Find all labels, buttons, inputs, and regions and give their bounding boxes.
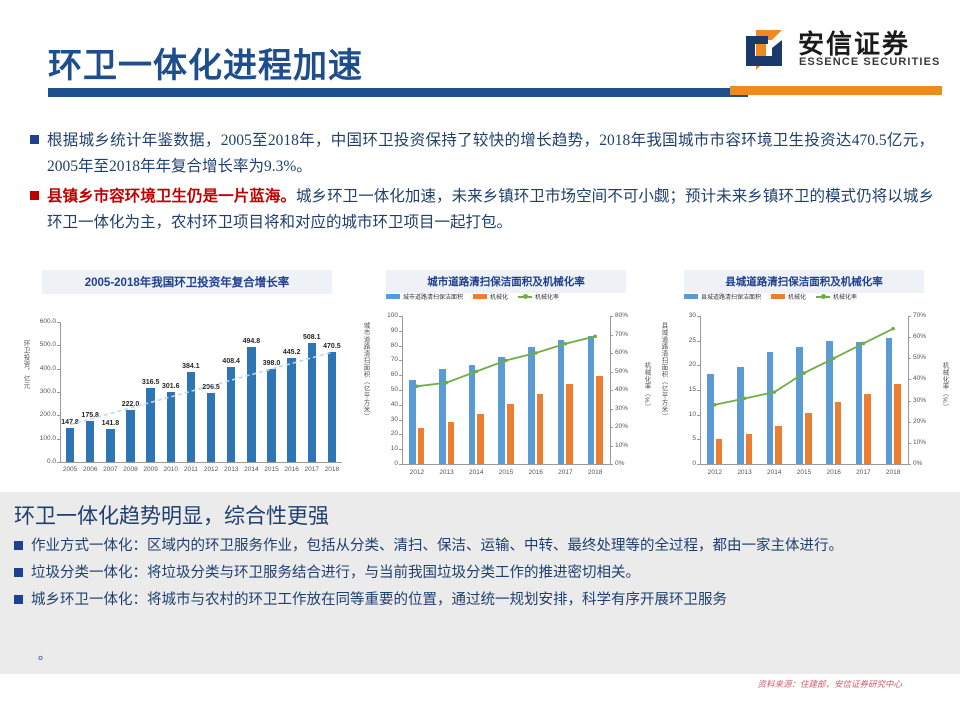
y2-tick-label: 80% (615, 312, 628, 319)
y-tick (697, 316, 700, 317)
y-tick-label: 90 (376, 327, 398, 334)
bullet-text: 垃圾分类一体化：将垃圾分类与环卫服务结合进行，与当前我国垃圾分类工作的推进密切相… (31, 561, 640, 585)
bar (328, 352, 336, 462)
legend-label: 机械化 (788, 292, 806, 301)
x-tick-label: 2012 (402, 469, 432, 476)
bar (187, 372, 195, 462)
y2-tick-label: 50% (913, 354, 926, 361)
y2-tick (908, 337, 911, 338)
legend-swatch-icon (816, 296, 830, 298)
y-tick (697, 415, 700, 416)
y2-tick-label: 50% (615, 368, 628, 375)
bar (167, 392, 175, 462)
bullet-item: 县镇乡市容环境卫生仍是一片蓝海。城乡环卫一体化加速，未来乡镇环卫市场空间不可小觑… (0, 184, 960, 236)
x-axis-line (700, 464, 908, 465)
y2-axis-line (908, 316, 909, 464)
bar (287, 358, 295, 462)
y-tick (399, 331, 402, 332)
legend-item: 机械化 (473, 292, 508, 301)
bullet-text: 作业方式一体化：区域内的环卫服务作业，包括从分类、清扫、保洁、运输、中转、最终处… (31, 534, 843, 558)
chart-legend: 城市道路清扫保洁面积机械化机械化率 (386, 292, 559, 301)
x-tick-label: 2017 (551, 469, 581, 476)
bar (716, 439, 723, 464)
y-axis-title: 环卫投资，亿元 (20, 340, 30, 440)
y-axis-line (60, 322, 61, 462)
y-tick (697, 439, 700, 440)
bar (308, 343, 316, 462)
legend-label: 机械化 (490, 292, 508, 301)
y-tick-label: 60 (376, 371, 398, 378)
bar (796, 347, 803, 464)
bar-value-label: 408.4 (218, 358, 244, 365)
y-tick (697, 464, 700, 465)
y2-tick (610, 464, 613, 465)
bar (566, 384, 573, 464)
y-axis-title: 县城道路清扫面积（亿平方米） (658, 322, 668, 458)
bar (86, 421, 94, 462)
y-tick (399, 360, 402, 361)
source-note: 资料来源：住建部，安信证券研究中心 (757, 678, 902, 690)
bar-value-label: 147.8 (57, 419, 83, 426)
chart-title: 2005-2018年我国环卫投资年复合增长率 (42, 270, 332, 294)
y2-tick-label: 60% (913, 333, 926, 340)
x-tick-label: 2010 (161, 466, 181, 473)
bullet-square-icon (14, 541, 23, 550)
y-axis-line (700, 316, 701, 464)
bullet-square-icon (30, 191, 39, 200)
y2-tick-label: 40% (913, 375, 926, 382)
x-tick-label: 2018 (878, 469, 908, 476)
bar (126, 410, 134, 462)
y-tick (57, 369, 60, 370)
x-tick-label: 2013 (221, 466, 241, 473)
x-axis-line (402, 464, 610, 465)
charts-row: 2005-2018年我国环卫投资年复合增长率 0.0100.0200.0300.… (0, 262, 960, 490)
y-tick-label: 200.0 (26, 411, 56, 418)
y2-tick-label: 10% (615, 442, 628, 449)
bullet-text: 县镇乡市容环境卫生仍是一片蓝海。城乡环卫一体化加速，未来乡镇环卫市场空间不可小觑… (47, 184, 934, 236)
y-tick (57, 462, 60, 463)
bullet-lead-emphasis: 县镇乡市容环境卫生仍是一片蓝海。 (47, 188, 296, 205)
y-tick (399, 405, 402, 406)
bar-value-label: 301.6 (158, 383, 184, 390)
x-tick-label: 2015 (491, 469, 521, 476)
bar (507, 404, 514, 464)
bar (746, 434, 753, 464)
y-tick-label: 30 (674, 312, 696, 319)
slide-header: 环卫一体化进程加速 安信证券 ESSENCE SECURITIES (0, 0, 960, 110)
bar (477, 414, 484, 464)
x-tick-label: 2013 (730, 469, 760, 476)
bar (596, 376, 603, 464)
x-tick-label: 2015 (261, 466, 281, 473)
bar (247, 347, 255, 462)
y2-tick-label: 70% (913, 312, 926, 319)
bullet-item: 垃圾分类一体化：将垃圾分类与环卫服务结合进行，与当前我国垃圾分类工作的推进密切相… (0, 561, 960, 585)
y-tick (57, 392, 60, 393)
bullet-item: 根据城乡统计年鉴数据，2005至2018年，中国环卫投资保持了较快的增长趋势，2… (0, 128, 960, 180)
y-tick (57, 439, 60, 440)
legend-item: 城市道路清扫保洁面积 (386, 292, 463, 301)
x-tick-label: 2013 (432, 469, 462, 476)
y-tick (697, 390, 700, 391)
y2-tick (908, 422, 911, 423)
y-tick (399, 420, 402, 421)
x-tick-label: 2018 (322, 466, 342, 473)
y-tick (57, 345, 60, 346)
y2-tick-label: 60% (615, 349, 628, 356)
essence-logo-icon (742, 26, 788, 72)
y2-tick-label: 20% (615, 423, 628, 430)
bullet-square-icon (14, 568, 23, 577)
bar (227, 367, 235, 462)
y2-tick-label: 20% (913, 418, 926, 425)
bar (106, 429, 114, 462)
y-tick (57, 322, 60, 323)
y-tick-label: 80 (376, 342, 398, 349)
bar (146, 388, 154, 462)
x-axis-line (60, 462, 342, 463)
y-tick (399, 449, 402, 450)
y-tick (57, 415, 60, 416)
bar (409, 380, 416, 464)
legend-item: 机械化 (771, 292, 806, 301)
y-tick-label: 100 (376, 312, 398, 319)
bar (448, 422, 455, 464)
y-tick-label: 25 (674, 337, 696, 344)
bar (207, 393, 215, 462)
page-title: 环卫一体化进程加速 (48, 38, 363, 87)
y-tick-label: 20 (376, 430, 398, 437)
legend-label: 城市道路清扫保洁面积 (403, 292, 463, 301)
bar (588, 336, 595, 464)
bullet-square-icon (14, 595, 23, 604)
bullet-square-icon (30, 135, 39, 144)
bar-value-label: 384.1 (178, 363, 204, 370)
chart-city-road-cleaning: 城市道路清扫保洁面积及机械化率 城市道路清扫保洁面积机械化机械化率0102030… (358, 262, 654, 490)
x-tick-label: 2011 (181, 466, 201, 473)
chart-legend: 县城道路清扫保洁面积机械化机械化率 (684, 292, 857, 301)
x-tick-label: 2014 (759, 469, 789, 476)
y-tick (399, 464, 402, 465)
logo-underline-bar (730, 86, 942, 95)
y2-tick-label: 30% (615, 405, 628, 412)
chart-investment-cagr: 2005-2018年我国环卫投资年复合增长率 0.0100.0200.0300.… (18, 262, 356, 490)
y2-tick (610, 353, 613, 354)
y-tick (399, 434, 402, 435)
x-tick-label: 2007 (100, 466, 120, 473)
bullet-item: 城乡环卫一体化：将城市与农村的环卫工作放在同等重要的位置，通过统一规划安排，科学… (0, 588, 960, 612)
bar-value-label: 175.8 (77, 412, 103, 419)
x-tick-label: 2018 (580, 469, 610, 476)
bar (886, 338, 893, 464)
y-tick-label: 30 (376, 416, 398, 423)
y-tick-label: 15 (674, 386, 696, 393)
bar (805, 413, 812, 464)
bottom-panel: 环卫一体化趋势明显，综合性更强 作业方式一体化：区域内的环卫服务作业，包括从分类… (0, 492, 960, 674)
legend-swatch-icon (771, 294, 785, 299)
bar (775, 426, 782, 464)
bar (856, 342, 863, 464)
bar (707, 374, 714, 464)
bar-value-label: 508.1 (299, 334, 325, 341)
legend-label: 机械化率 (833, 292, 857, 301)
y2-tick-label: 40% (615, 386, 628, 393)
y-tick-label: 400.0 (26, 365, 56, 372)
bar (826, 341, 833, 464)
bar-value-label: 296.5 (198, 384, 224, 391)
y2-tick (610, 390, 613, 391)
bar (864, 394, 871, 464)
y2-tick (610, 335, 613, 336)
y-tick-label: 50 (376, 386, 398, 393)
y2-axis-title: 机械化率（%） (641, 362, 651, 440)
y2-tick (610, 372, 613, 373)
legend-label: 县城道路清扫保洁面积 (701, 292, 761, 301)
x-tick-label: 2005 (60, 466, 80, 473)
bar (498, 357, 505, 464)
legend-swatch-icon (518, 296, 532, 298)
y-tick (697, 341, 700, 342)
y2-tick (610, 316, 613, 317)
bullet-item: 作业方式一体化：区域内的环卫服务作业，包括从分类、清扫、保洁、运输、中转、最终处… (0, 534, 960, 558)
bar-value-label: 222.0 (117, 401, 143, 408)
y-tick-label: 300.0 (26, 388, 56, 395)
y2-tick (610, 427, 613, 428)
bar (528, 347, 535, 464)
bar (439, 369, 446, 464)
brand-logo: 安信证券 ESSENCE SECURITIES (742, 22, 942, 90)
y-tick-label: 0.0 (26, 458, 56, 465)
top-bullet-list: 根据城乡统计年鉴数据，2005至2018年，中国环卫投资保持了较快的增长趋势，2… (0, 128, 960, 240)
y2-tick (610, 409, 613, 410)
x-tick-label: 2014 (461, 469, 491, 476)
chart-plot-area: 城市道路清扫保洁面积机械化机械化率01020304050607080901000… (358, 290, 654, 486)
y-tick-label: 500.0 (26, 341, 56, 348)
y-tick (399, 316, 402, 317)
y-tick-label: 40 (376, 401, 398, 408)
bar (267, 369, 275, 462)
bar-value-label: 494.8 (238, 338, 264, 345)
chart-county-road-cleaning: 县城道路清扫保洁面积及机械化率 县城道路清扫保洁面积机械化机械化率0510152… (656, 262, 952, 490)
y-tick-label: 20 (674, 361, 696, 368)
x-tick-label: 2016 (282, 466, 302, 473)
x-tick-label: 2009 (141, 466, 161, 473)
bar-value-label: 141.8 (97, 420, 123, 427)
x-tick-label: 2016 (819, 469, 849, 476)
slide-root: 环卫一体化进程加速 安信证券 ESSENCE SECURITIES 根据城乡统计… (0, 0, 960, 720)
y-tick-label: 5 (674, 435, 696, 442)
y-axis-title: 城市道路清扫面积（亿平方米） (360, 322, 370, 458)
y2-tick-label: 70% (615, 331, 628, 338)
x-tick-label: 2012 (700, 469, 730, 476)
y2-tick-label: 30% (913, 397, 926, 404)
y-axis-line (402, 316, 403, 464)
y2-tick (908, 316, 911, 317)
bar (418, 428, 425, 464)
bottom-panel-title: 环卫一体化趋势明显，综合性更强 (14, 500, 329, 530)
legend-item: 县城道路清扫保洁面积 (684, 292, 761, 301)
x-tick-label: 2012 (201, 466, 221, 473)
x-tick-label: 2008 (120, 466, 140, 473)
legend-item: 机械化率 (816, 292, 857, 301)
y2-tick (908, 379, 911, 380)
y2-tick (908, 401, 911, 402)
bar (835, 402, 842, 464)
logo-text-en: ESSENCE SECURITIES (799, 56, 940, 68)
x-tick-label: 2014 (241, 466, 261, 473)
y-tick-label: 0 (376, 460, 398, 467)
chart-plot-area: 0.0100.0200.0300.0400.0500.0600.0环卫投资，亿元… (18, 296, 356, 484)
x-tick-label: 2016 (521, 469, 551, 476)
chart-plot-area: 县城道路清扫保洁面积机械化机械化率0510152025300%10%20%30%… (656, 290, 952, 486)
legend-item: 机械化率 (518, 292, 559, 301)
title-underline-bar (48, 88, 748, 97)
x-tick-label: 2017 (302, 466, 322, 473)
y2-axis-title: 机械化率（%） (939, 362, 949, 440)
y-tick-label: 10 (376, 445, 398, 452)
x-tick-label: 2006 (80, 466, 100, 473)
legend-label: 机械化率 (535, 292, 559, 301)
y2-tick-label: 10% (913, 439, 926, 446)
bar (537, 394, 544, 464)
bar-value-label: 445.2 (278, 349, 304, 356)
y2-tick (908, 464, 911, 465)
y2-tick (610, 446, 613, 447)
legend-swatch-icon (684, 294, 698, 299)
bullet-text: 城乡环卫一体化：将城市与农村的环卫工作放在同等重要的位置，通过统一规划安排，科学… (31, 588, 727, 612)
bar (558, 340, 565, 464)
legend-swatch-icon (473, 294, 487, 299)
bottom-bullet-list: 作业方式一体化：区域内的环卫服务作业，包括从分类、清扫、保洁、运输、中转、最终处… (0, 534, 960, 615)
bullet-text: 根据城乡统计年鉴数据，2005至2018年，中国环卫投资保持了较快的增长趋势，2… (47, 128, 934, 180)
y-tick-label: 600.0 (26, 318, 56, 325)
y-tick-label: 100.0 (26, 435, 56, 442)
bar-value-label: 470.5 (319, 343, 345, 350)
y-tick (697, 365, 700, 366)
y2-tick-label: 0% (615, 460, 624, 467)
bar (737, 367, 744, 464)
legend-swatch-icon (386, 294, 400, 299)
bar (66, 428, 74, 462)
bar (469, 365, 476, 464)
y-tick-label: 0 (674, 460, 696, 467)
x-tick-label: 2017 (849, 469, 879, 476)
bar-value-label: 398.0 (258, 360, 284, 367)
y-tick (399, 390, 402, 391)
y2-tick (908, 443, 911, 444)
x-tick-label: 2015 (789, 469, 819, 476)
y-tick-label: 10 (674, 411, 696, 418)
bottom-trailing-punctuation: 。 (38, 644, 51, 663)
bar (767, 352, 774, 464)
bar (894, 384, 901, 464)
y-tick (399, 375, 402, 376)
y2-tick (908, 358, 911, 359)
y2-tick-label: 0% (913, 460, 922, 467)
y-tick-label: 70 (376, 356, 398, 363)
y-tick (399, 346, 402, 347)
